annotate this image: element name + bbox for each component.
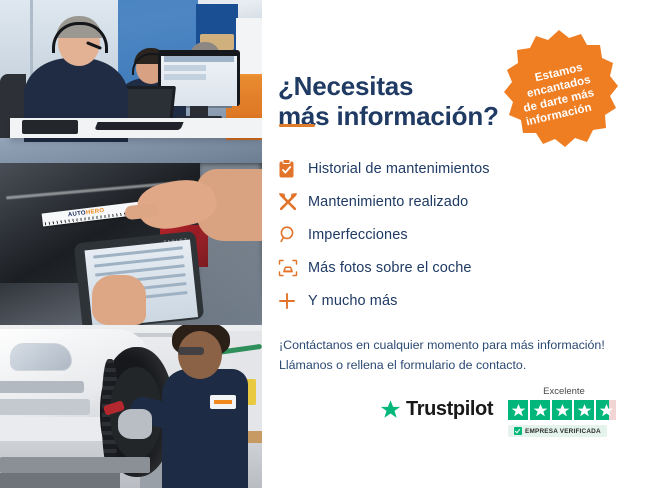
trustpilot-star-rating — [508, 400, 636, 420]
contact-paragraph-line-2: Llámanos o rellena el formulario de cont… — [279, 355, 631, 375]
list-item: Más fotos sobre el coche — [278, 251, 618, 284]
inspector-hand-lower-decor — [92, 275, 146, 325]
title-underline-divider — [279, 124, 315, 127]
photo-column: AUTOHERO TABLET — [0, 0, 262, 488]
trustpilot-rating-block: Excelente EMPRESA VERIFICADA — [508, 386, 636, 440]
rating-star — [552, 400, 572, 420]
verified-company-badge: EMPRESA VERIFICADA — [508, 425, 607, 437]
badge-text-block: Estamos encantados de darte más informac… — [498, 28, 620, 150]
rating-star — [530, 400, 550, 420]
laptop-keyboard-decor — [94, 122, 183, 130]
photo-inspection-measuring-car-with-autohero-ruler: AUTOHERO TABLET — [0, 163, 262, 325]
plus-icon — [278, 289, 308, 313]
feature-list: Historial de mantenimientos Mantenimient… — [278, 152, 618, 317]
list-item-label: Imperfecciones — [308, 227, 408, 243]
trustpilot-widget[interactable]: Trustpilot Excelente EMPRESA VERIFICADA — [380, 386, 636, 446]
support-badge: Estamos encantados de darte más informac… — [498, 28, 620, 150]
list-item-label: Y mucho más — [308, 293, 397, 309]
verified-check-icon — [514, 427, 522, 435]
page-title: ¿Necesitas más información? — [278, 71, 528, 131]
verified-company-label: EMPRESA VERIFICADA — [525, 428, 601, 435]
tools-cross-icon — [278, 190, 308, 214]
headlamp-decor — [10, 343, 72, 371]
car-lift-arm-decor — [0, 457, 150, 473]
content-panel: ¿Necesitas más información? Estamos enca… — [262, 0, 650, 488]
page-title-line-1: ¿Necesitas — [278, 71, 413, 101]
photo-mechanic-inspecting-tire-on-lifted-car — [0, 325, 262, 488]
magnifier-icon — [278, 223, 308, 247]
trustpilot-rating-label: Excelente — [508, 386, 620, 397]
clipboard-check-icon — [278, 157, 308, 181]
contact-paragraph: ¡Contáctanos en cualquier momento para m… — [279, 335, 631, 375]
contact-paragraph-line-1: ¡Contáctanos en cualquier momento para m… — [279, 335, 631, 355]
trustpilot-star-icon — [380, 399, 401, 420]
car-lift-base-decor — [0, 473, 120, 488]
info-poster: AUTOHERO TABLET — [0, 0, 650, 488]
rating-star — [574, 400, 594, 420]
tablet-on-desk-decor — [22, 120, 78, 134]
grille-lower-decor — [0, 399, 90, 415]
car-scan-icon — [278, 256, 308, 280]
list-item: Imperfecciones — [278, 218, 618, 251]
list-item-label: Mantenimiento realizado — [308, 194, 468, 210]
list-item-label: Más fotos sobre el coche — [308, 260, 472, 276]
bumper-decor — [0, 417, 114, 441]
trustpilot-wordmark: Trustpilot — [406, 398, 493, 421]
mechanic-glove-decor — [118, 409, 152, 439]
trustpilot-logo[interactable]: Trustpilot — [380, 398, 493, 421]
list-item: Historial de mantenimientos — [278, 152, 618, 185]
rating-star-partial — [596, 400, 616, 420]
rating-star — [508, 400, 528, 420]
photo-call-center-agents-with-headsets — [0, 0, 262, 163]
grille-upper-decor — [0, 381, 84, 393]
list-item-label: Historial de mantenimientos — [308, 161, 490, 177]
list-item: Mantenimiento realizado — [278, 185, 618, 218]
list-item: Y mucho más — [278, 284, 618, 317]
